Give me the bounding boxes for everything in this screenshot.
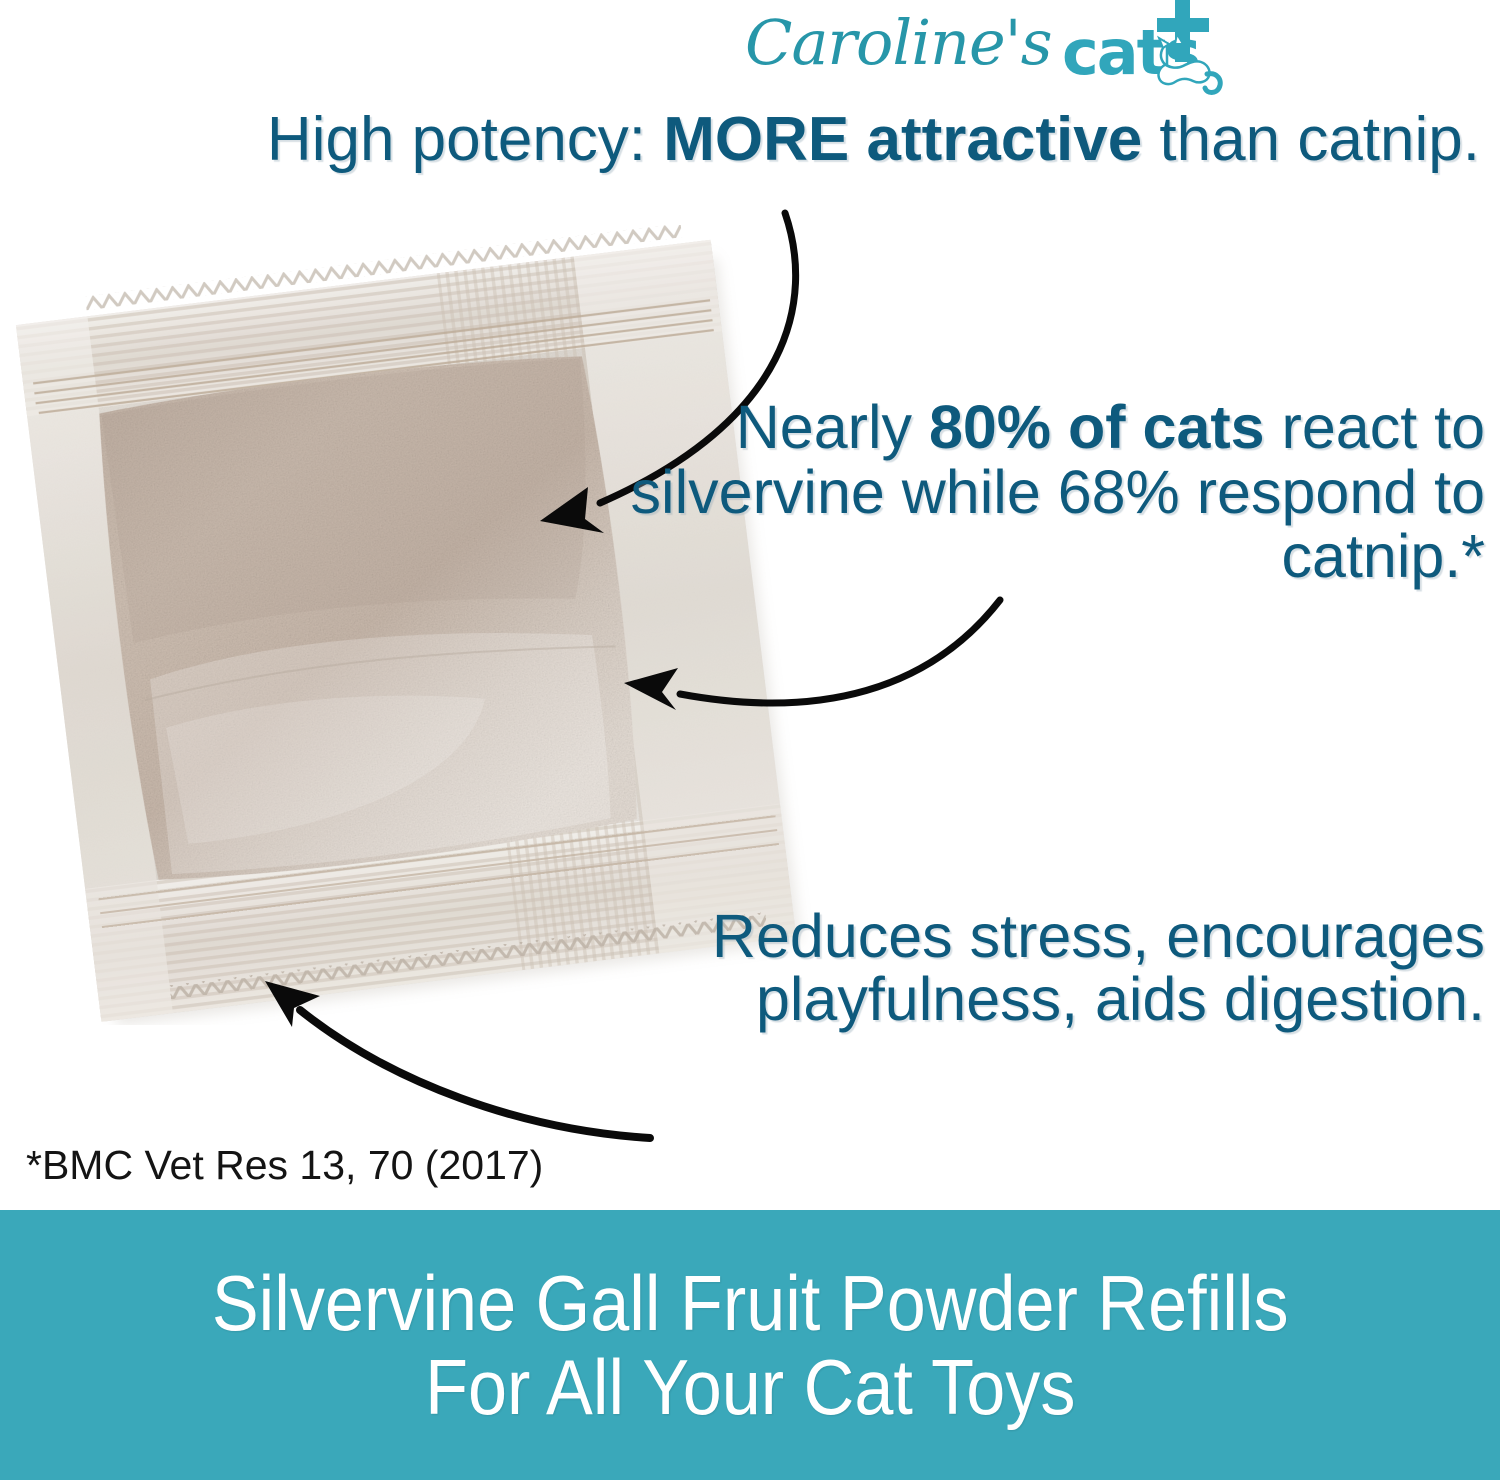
brand-logo: Caroline's cats	[745, 2, 1215, 98]
banner-line-1: Silvervine Gall Fruit Powder Refills	[212, 1261, 1289, 1345]
callout-benefits: Reduces stress, encourages playfulness, …	[380, 905, 1485, 1032]
callout-potency-plain-1: High potency:	[267, 105, 663, 174]
callout-react-plain-1: Nearly	[736, 393, 929, 461]
brand-script-text: Caroline's	[745, 6, 1052, 79]
callout-potency-plain-2: than catnip.	[1142, 105, 1480, 174]
callout-potency-bold-1: MORE attractive	[663, 105, 1142, 174]
banner-line-2: For All Your Cat Toys	[425, 1345, 1075, 1429]
callout-react-bold-1: 80% of cats	[929, 393, 1265, 461]
bottom-banner: Silvervine Gall Fruit Powder Refills For…	[0, 1210, 1500, 1480]
callout-high-potency: High potency: MORE attractive than catni…	[95, 108, 1480, 171]
infographic-canvas: Caroline's cats	[0, 0, 1500, 1480]
cat-silhouette-icon	[1137, 0, 1229, 96]
callout-benefits-text: Reduces stress, encourages playfulness, …	[712, 902, 1485, 1033]
callout-react-rate: Nearly 80% of cats react to silvervine w…	[630, 395, 1485, 589]
study-citation-footnote: *BMC Vet Res 13, 70 (2017)	[26, 1142, 543, 1189]
